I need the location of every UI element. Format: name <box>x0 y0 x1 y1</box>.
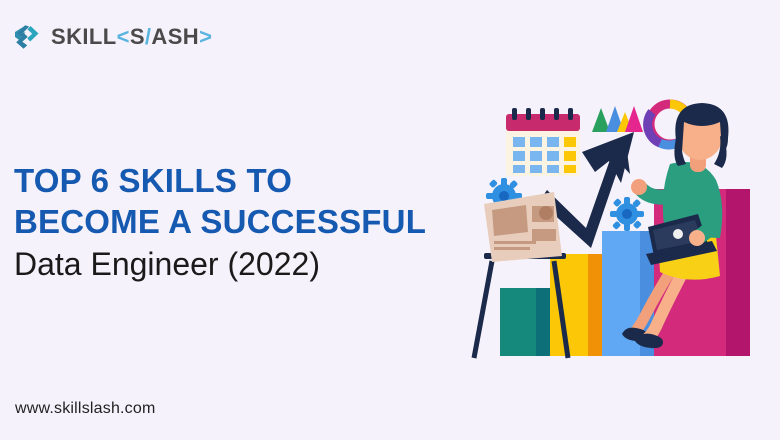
site-url[interactable]: www.skillslash.com <box>15 400 156 418</box>
headline-line-2: BECOME A SUCCESSFUL <box>14 201 464 242</box>
code-brackets-icon <box>14 24 42 50</box>
brand-wordmark: SKILL<S/ASH> <box>51 26 212 48</box>
brand-logo[interactable]: SKILL<S/ASH> <box>14 22 212 52</box>
wordmark-skill: SKILL <box>51 26 117 48</box>
wordmark-bracket-open: < <box>117 26 130 48</box>
promo-banner: SKILL<S/ASH> TOP 6 SKILLS TO BECOME A SU… <box>0 0 780 440</box>
headline-line-3: Data Engineer (2022) <box>14 242 464 286</box>
gear-icon-right <box>610 197 644 231</box>
wordmark-bracket-close: > <box>199 26 212 48</box>
wordmark-ash: ASH <box>151 26 199 48</box>
data-growth-illustration <box>462 86 772 376</box>
page-title: TOP 6 SKILLS TO BECOME A SUCCESSFUL Data… <box>14 160 464 286</box>
headline-line-1: TOP 6 SKILLS TO <box>14 160 464 201</box>
bar-2 <box>550 254 602 356</box>
mountain-triangles-icon <box>592 106 643 132</box>
calendar-icon <box>506 108 580 176</box>
wordmark-s: S <box>130 26 145 48</box>
bar-1 <box>500 288 550 356</box>
